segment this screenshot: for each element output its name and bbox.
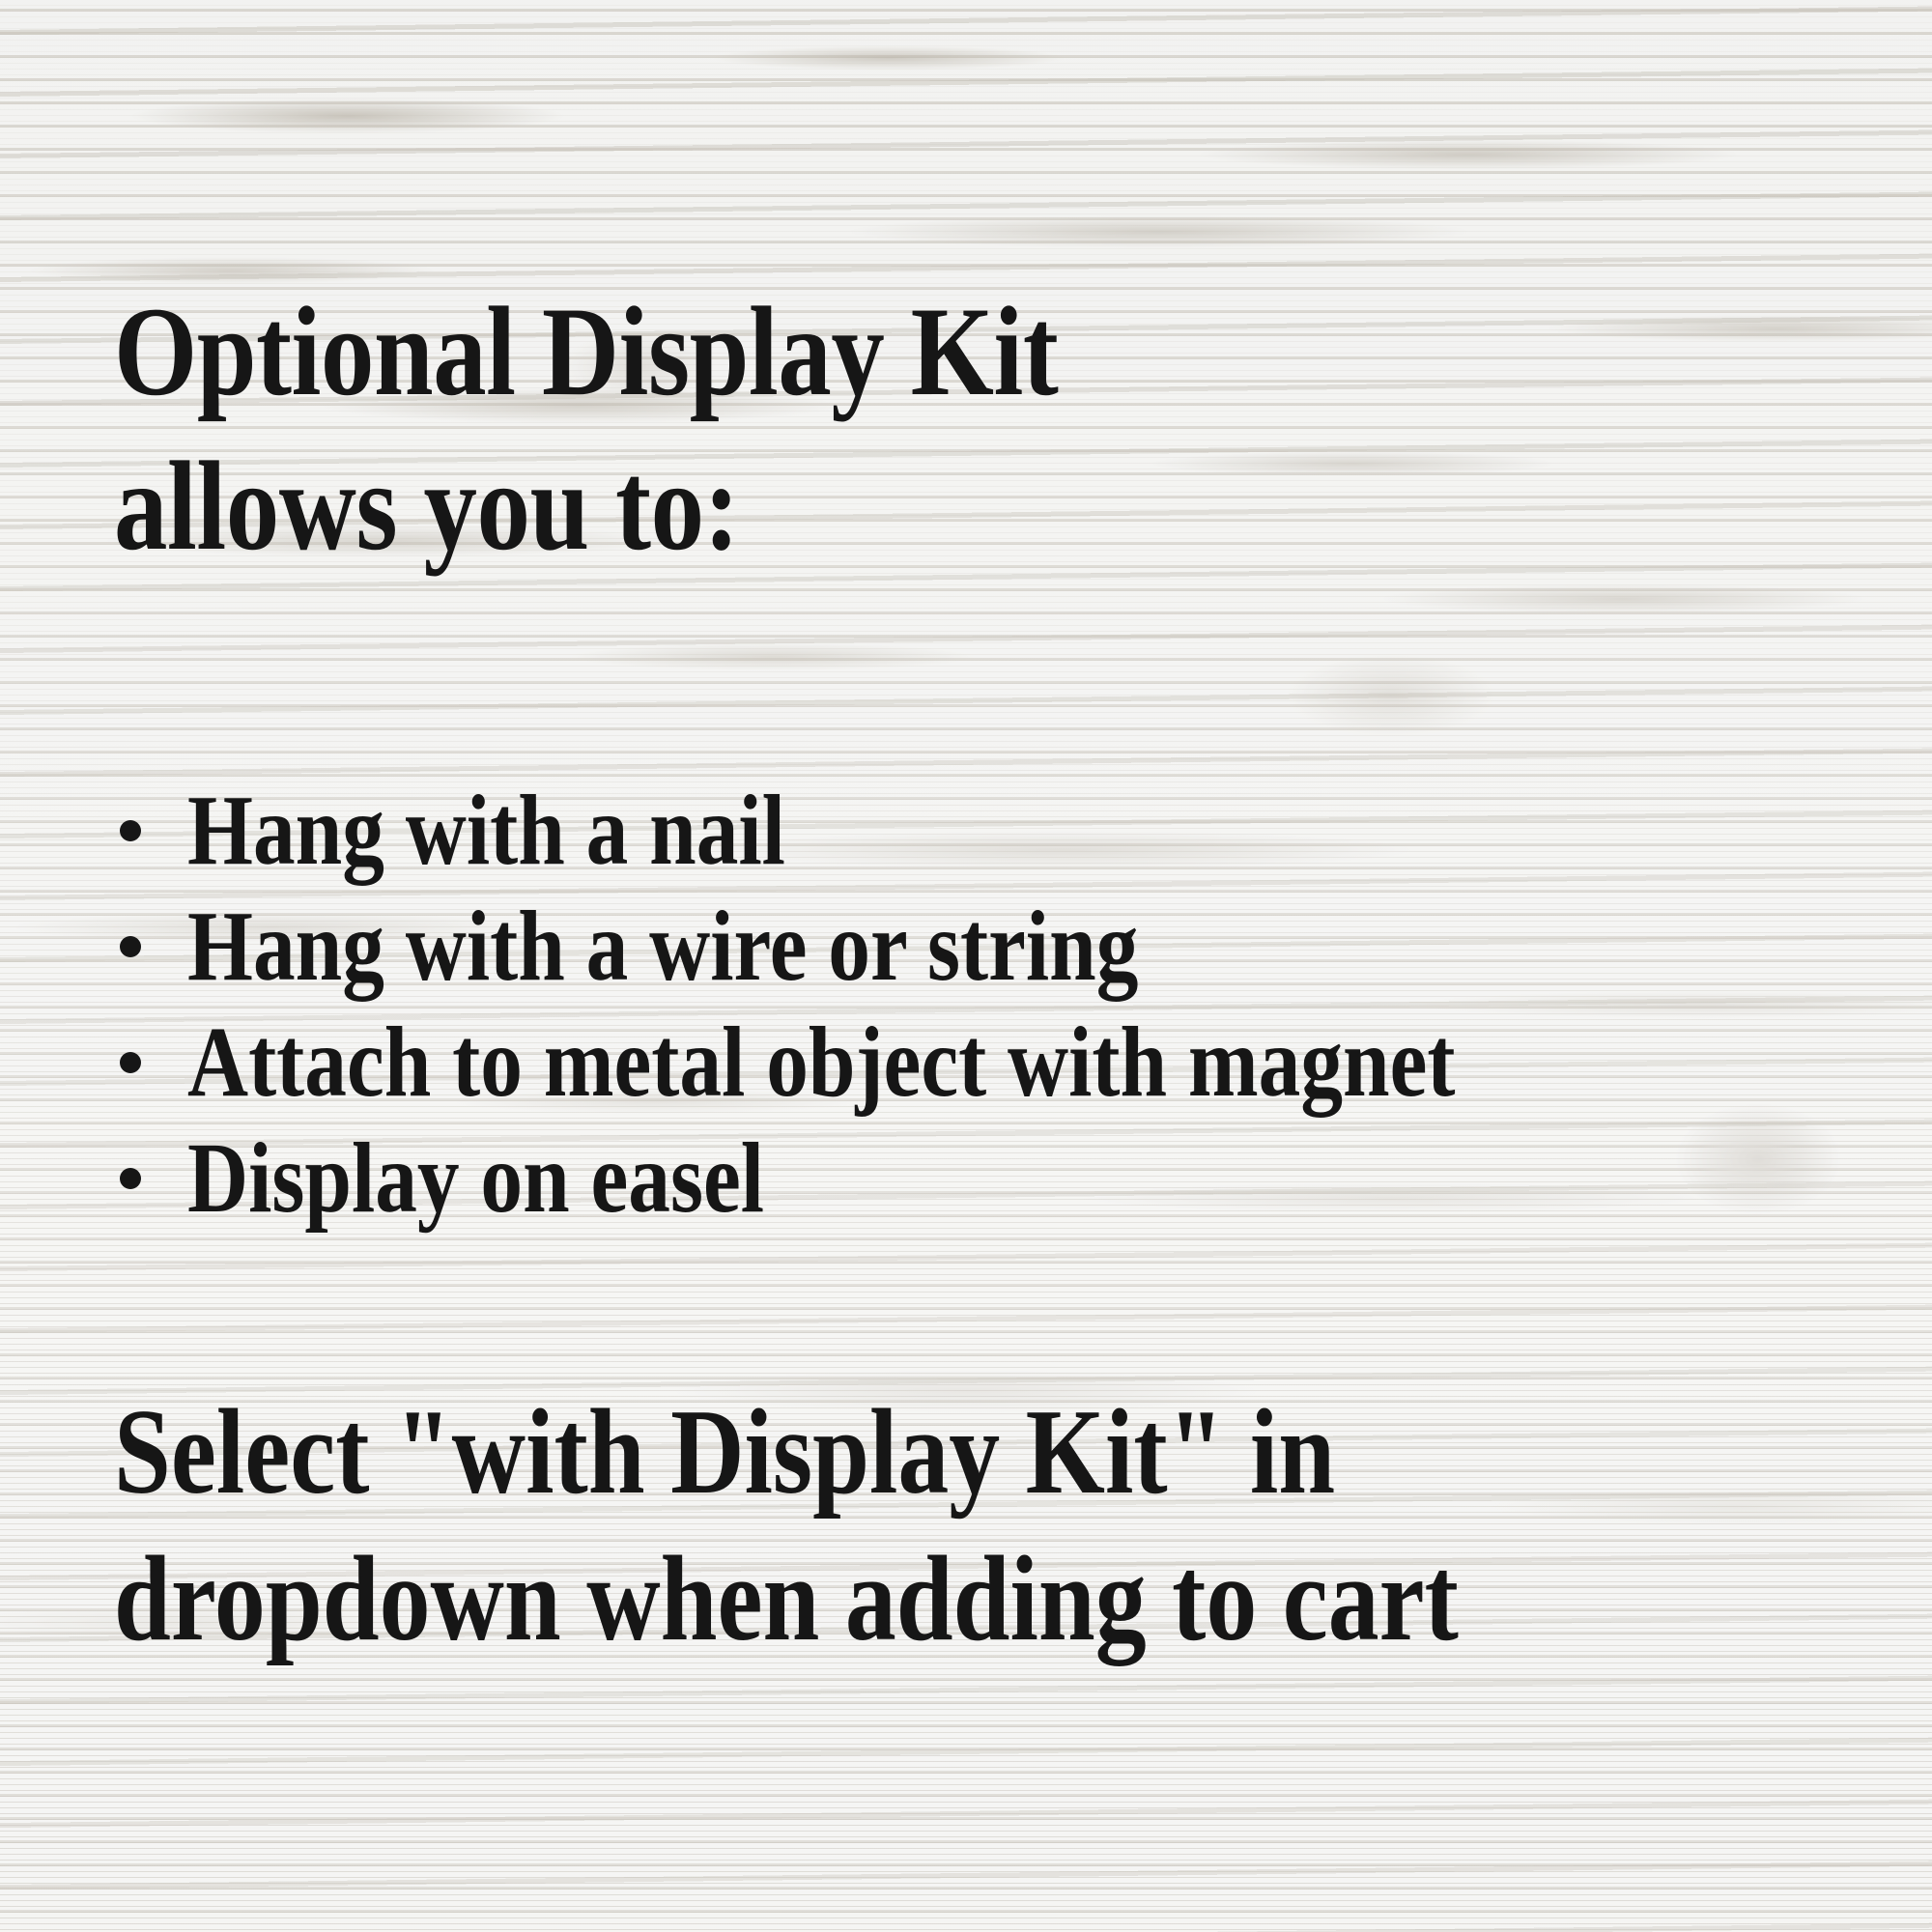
list-item: Hang with a nail xyxy=(114,773,1872,889)
list-item: Display on easel xyxy=(114,1121,1872,1236)
bullet-dot-icon xyxy=(120,936,141,957)
wood-sign-board: Optional Display Kit allows you to: Hang… xyxy=(0,0,1932,1932)
list-item: Hang with a wire or string xyxy=(114,889,1872,1005)
list-item-label: Hang with a wire or string xyxy=(187,893,1138,1001)
bullet-dot-icon xyxy=(120,1052,141,1073)
purchase-instruction-text: Select "with Display Kit" in dropdown wh… xyxy=(114,1379,1575,1673)
bullet-dot-icon xyxy=(120,1168,141,1189)
list-item-label: Hang with a nail xyxy=(187,777,785,885)
bullet-dot-icon xyxy=(120,820,141,841)
list-item-label: Attach to metal object with magnet xyxy=(187,1009,1456,1117)
sign-content: Optional Display Kit allows you to: Hang… xyxy=(0,0,1932,1932)
list-item: Attach to metal object with magnet xyxy=(114,1005,1872,1121)
list-item-label: Display on easel xyxy=(187,1124,764,1233)
page-title: Optional Display Kit allows you to: xyxy=(114,274,1542,583)
feature-bullet-list: Hang with a nail Hang with a wire or str… xyxy=(114,773,1872,1236)
